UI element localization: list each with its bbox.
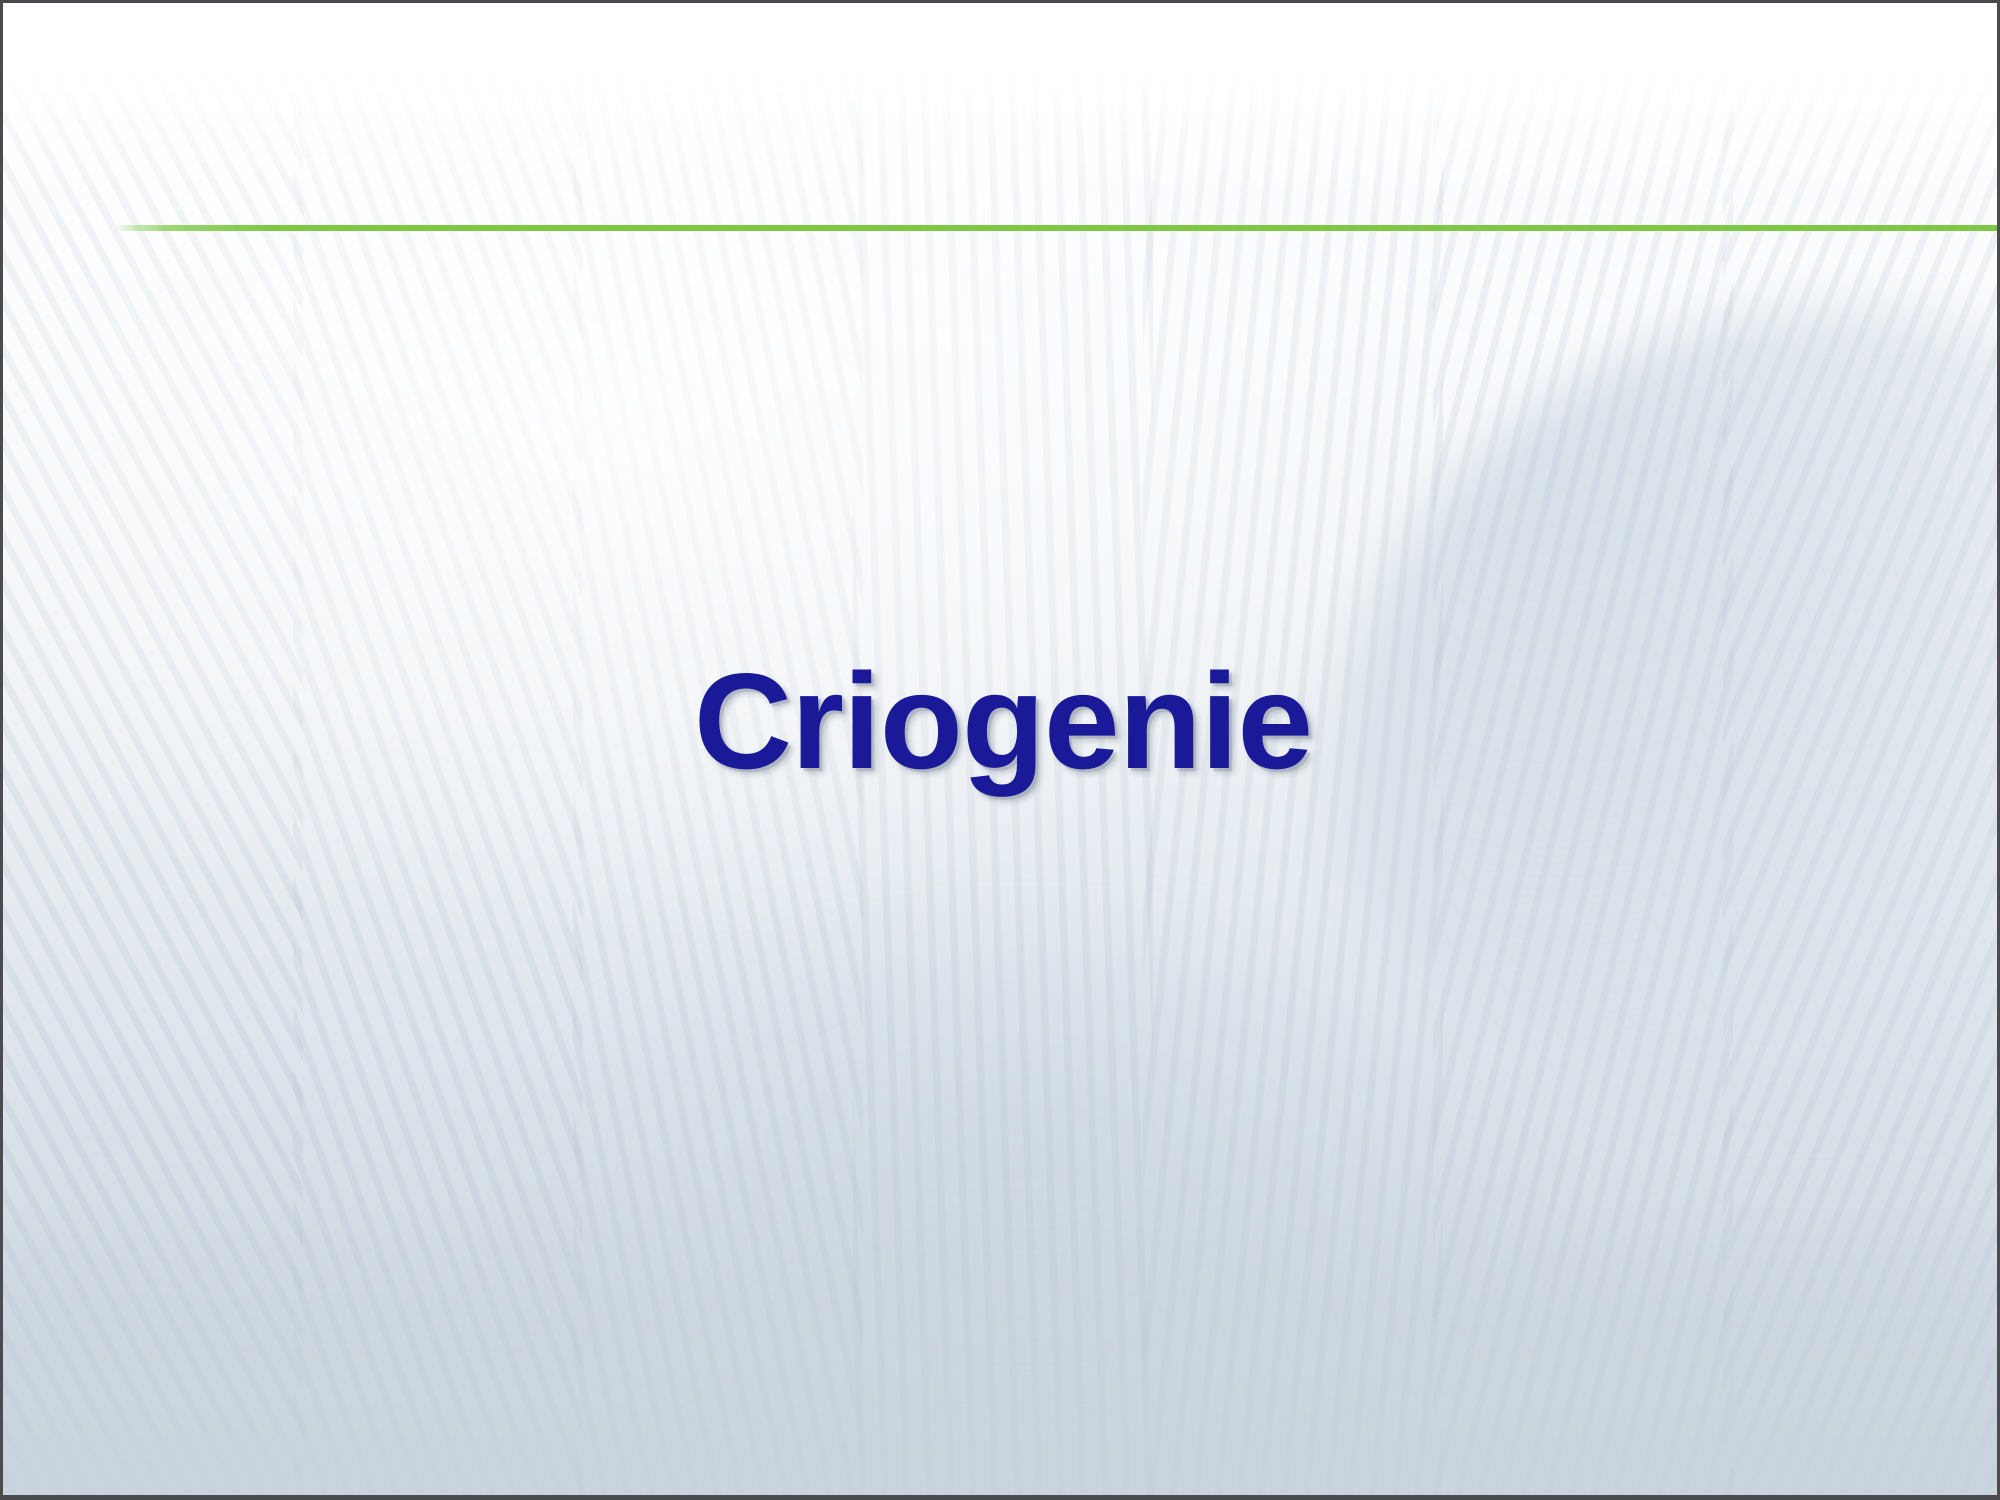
- slide-title: Criogenie: [694, 653, 1312, 789]
- title-block: Criogenie: [3, 653, 2000, 789]
- background-blob-lower-center: [523, 933, 1523, 1453]
- accent-rule: [115, 225, 2000, 231]
- presentation-slide: Criogenie: [0, 0, 2000, 1500]
